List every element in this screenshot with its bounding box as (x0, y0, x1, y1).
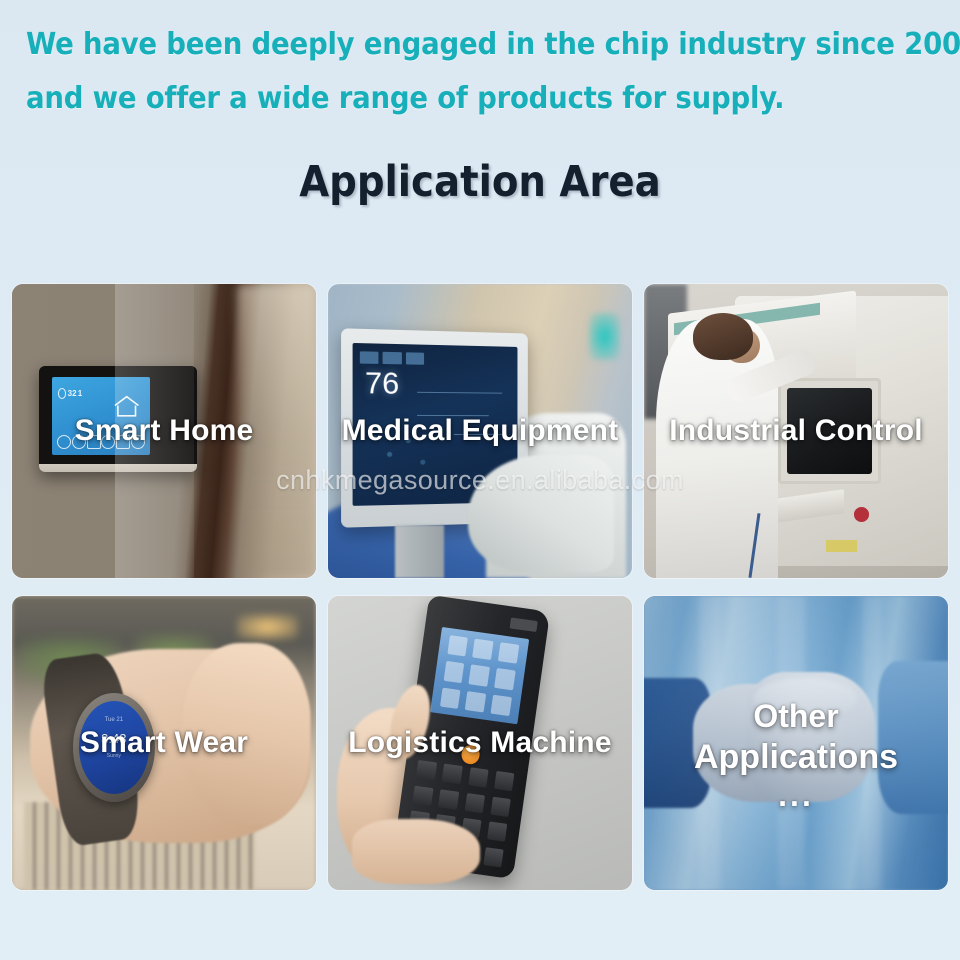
curtain-icon (87, 435, 101, 449)
keypad-key (442, 763, 463, 783)
tile-label-line-2: Applications (644, 736, 948, 778)
smartwatch-time: 3:43 (79, 732, 150, 745)
fan-icon (57, 435, 71, 449)
machine-yellow-label (826, 540, 856, 552)
banner-headline: We have been deeply engaged in the chip … (0, 18, 960, 126)
monitor-waveform-line (418, 415, 490, 416)
pda-screen (430, 627, 529, 725)
monitor-chip (360, 351, 379, 364)
pda-app-icon (491, 695, 512, 717)
keypad-key (491, 796, 512, 816)
keypad-key (487, 821, 508, 841)
application-grid: 32 1 (12, 284, 948, 890)
pda-app-icon (447, 635, 468, 657)
monitor-waveform-line (418, 392, 502, 394)
tile-other-applications[interactable]: Other Applications ... (644, 596, 948, 890)
pda-app-icon (465, 691, 486, 713)
pda-app-icon (443, 661, 464, 683)
industrial-crt-screen (787, 388, 872, 475)
section-title: Application Area (0, 158, 960, 206)
smartwatch-weather: Sunny (79, 753, 150, 759)
tile-smart-home[interactable]: 32 1 (12, 284, 316, 578)
pda-app-icon (473, 638, 494, 660)
smart-home-status-row: 32 1 (58, 388, 82, 399)
device-speaker (510, 617, 538, 631)
monitor-data-cluster (367, 427, 441, 482)
tile-logistics-machine[interactable]: Logistics Machine (328, 596, 632, 890)
industrial-monitor (778, 378, 881, 484)
keypad-key (494, 771, 515, 791)
lock-icon (101, 435, 115, 449)
pda-app-icon (494, 668, 515, 690)
keypad-key (416, 760, 437, 780)
smart-home-count-value: 1 (78, 389, 82, 398)
hand (182, 643, 310, 825)
tile-medical-equipment[interactable]: 76 Medical Equipment (328, 284, 632, 578)
keypad-key (468, 767, 489, 787)
holding-hand-fingers (352, 819, 480, 884)
monitor-chip (406, 352, 424, 365)
keypad-key (483, 847, 504, 867)
application-area-banner: We have been deeply engaged in the chip … (0, 0, 960, 960)
smart-home-light-reflection (115, 284, 194, 578)
pda-app-icon (440, 687, 461, 709)
pda-app-icon (469, 665, 490, 687)
monitor-top-bar (360, 351, 512, 367)
monitor-stand (395, 525, 444, 578)
smartwatch: Tue 21 3:43 Sunny (73, 693, 155, 802)
medical-teal-highlight (589, 313, 619, 360)
tile-label-line-3: ... (644, 778, 948, 812)
keypad-key (439, 789, 460, 809)
pda-desktop-icons (440, 635, 519, 717)
background-light (237, 614, 298, 640)
light-icon (72, 435, 86, 449)
headline-line-2: and we offer a wide range of products fo… (26, 72, 952, 126)
smart-home-temp-value: 32 (68, 389, 77, 398)
pda-app-icon (498, 642, 519, 664)
smartwatch-date: Tue 21 (79, 717, 150, 723)
tile-industrial-control[interactable]: Industrial Control (644, 284, 948, 578)
tile-smart-wear[interactable]: Tue 21 3:43 Sunny Smart Wear (12, 596, 316, 890)
gloved-hand (468, 455, 614, 573)
monitor-waveform-line (454, 434, 502, 435)
keypad-key (465, 792, 486, 812)
tile-label-line-1: Other (644, 696, 948, 736)
keypad-key (413, 785, 434, 805)
industrial-operator-head (693, 313, 754, 360)
emergency-stop-button (854, 507, 869, 522)
weather-icon (58, 388, 67, 399)
smartwatch-face: Tue 21 3:43 Sunny (79, 701, 150, 795)
monitor-chip (383, 351, 402, 364)
headline-line-1: We have been deeply engaged in the chip … (26, 18, 952, 72)
scan-trigger-button (460, 744, 481, 765)
tile-label-other-applications: Other Applications ... (644, 696, 948, 812)
monitor-vital-value: 76 (365, 369, 399, 400)
